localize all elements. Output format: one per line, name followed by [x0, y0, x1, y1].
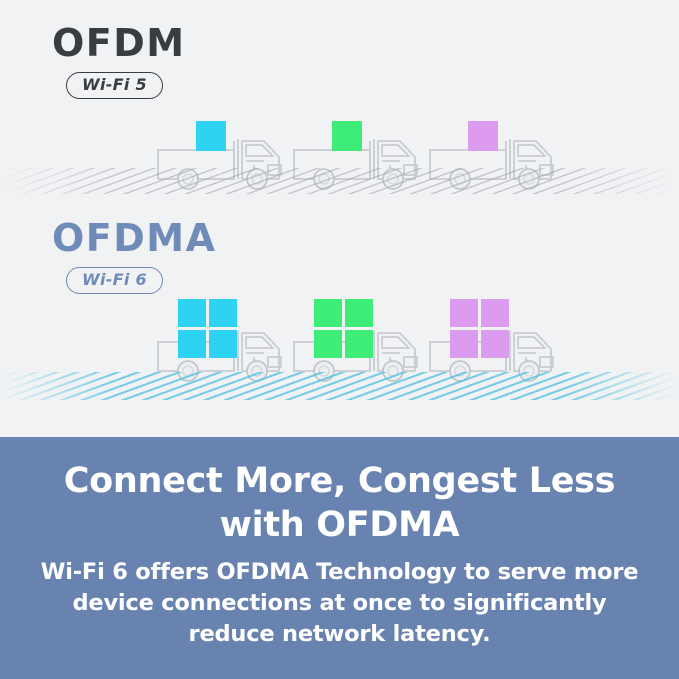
- diagram-area: OFDM Wi-Fi 5: [0, 0, 679, 437]
- section-header-ofdma: OFDMA Wi-Fi 6: [52, 217, 217, 294]
- road-ofdm: [0, 168, 679, 194]
- infographic-page: OFDM Wi-Fi 5: [0, 0, 679, 679]
- section-title-ofdma: OFDMA: [52, 217, 217, 259]
- wifi-badge-6: Wi-Fi 6: [66, 267, 163, 294]
- cargo-box-grid: [178, 299, 237, 358]
- section-header-ofdm: OFDM Wi-Fi 5: [52, 22, 186, 99]
- cargo-box-grid: [450, 299, 509, 358]
- cargo-box: [332, 121, 362, 151]
- wifi-badge-5: Wi-Fi 5: [66, 72, 163, 99]
- section-title-ofdm: OFDM: [52, 22, 186, 64]
- cargo-box: [196, 121, 226, 151]
- banner-subtitle: Wi-Fi 6 offers OFDMA Technology to serve…: [34, 557, 645, 650]
- truck-row-ofdm: [0, 105, 679, 225]
- banner-title: Connect More, Congest Less with OFDMA: [34, 459, 645, 547]
- cargo-box: [468, 121, 498, 151]
- cargo-box-grid: [314, 299, 373, 358]
- road-ofdma: [0, 372, 679, 400]
- bottom-banner: Connect More, Congest Less with OFDMA Wi…: [0, 437, 679, 679]
